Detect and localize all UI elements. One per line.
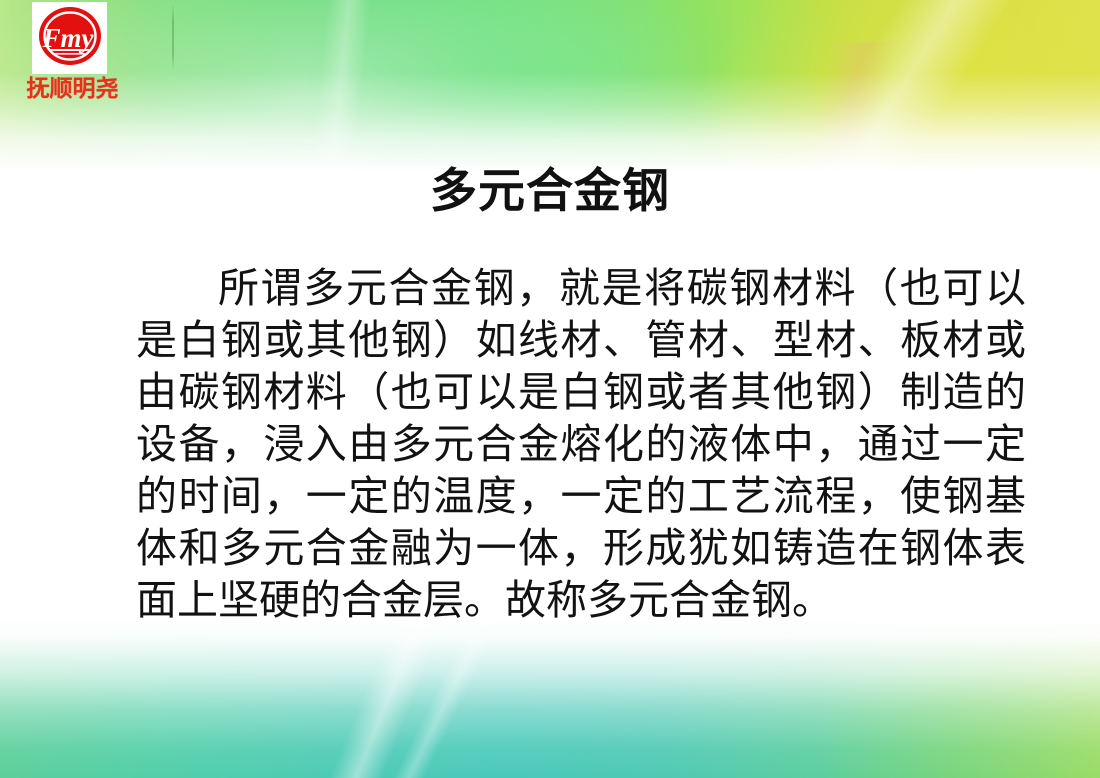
slide-content: 多元合金钢 所谓多元合金钢，就是将碳钢材料（也可以是白钢或其他钢）如线材、管材、…	[0, 0, 1100, 778]
body-paragraph: 所谓多元合金钢，就是将碳钢材料（也可以是白钢或其他钢）如线材、管材、型材、板材或…	[136, 262, 1026, 626]
company-name-label: 抚顺明尧	[10, 76, 135, 100]
slide-body-text: 所谓多元合金钢，就是将碳钢材料（也可以是白钢或其他钢）如线材、管材、型材、板材或…	[136, 262, 1026, 626]
slide-title: 多元合金钢	[0, 163, 1100, 219]
presentation-slide: Fmy 抚顺明尧 多元合金钢 所谓多元合金钢，就是将碳钢材料（也可以是白钢或其他…	[0, 0, 1100, 778]
fmy-circle-icon: Fmy	[35, 4, 105, 72]
brand-logo: Fmy 抚顺明尧	[10, 2, 135, 100]
company-logo-mark: Fmy	[32, 2, 107, 74]
svg-text:Fmy: Fmy	[41, 23, 94, 53]
